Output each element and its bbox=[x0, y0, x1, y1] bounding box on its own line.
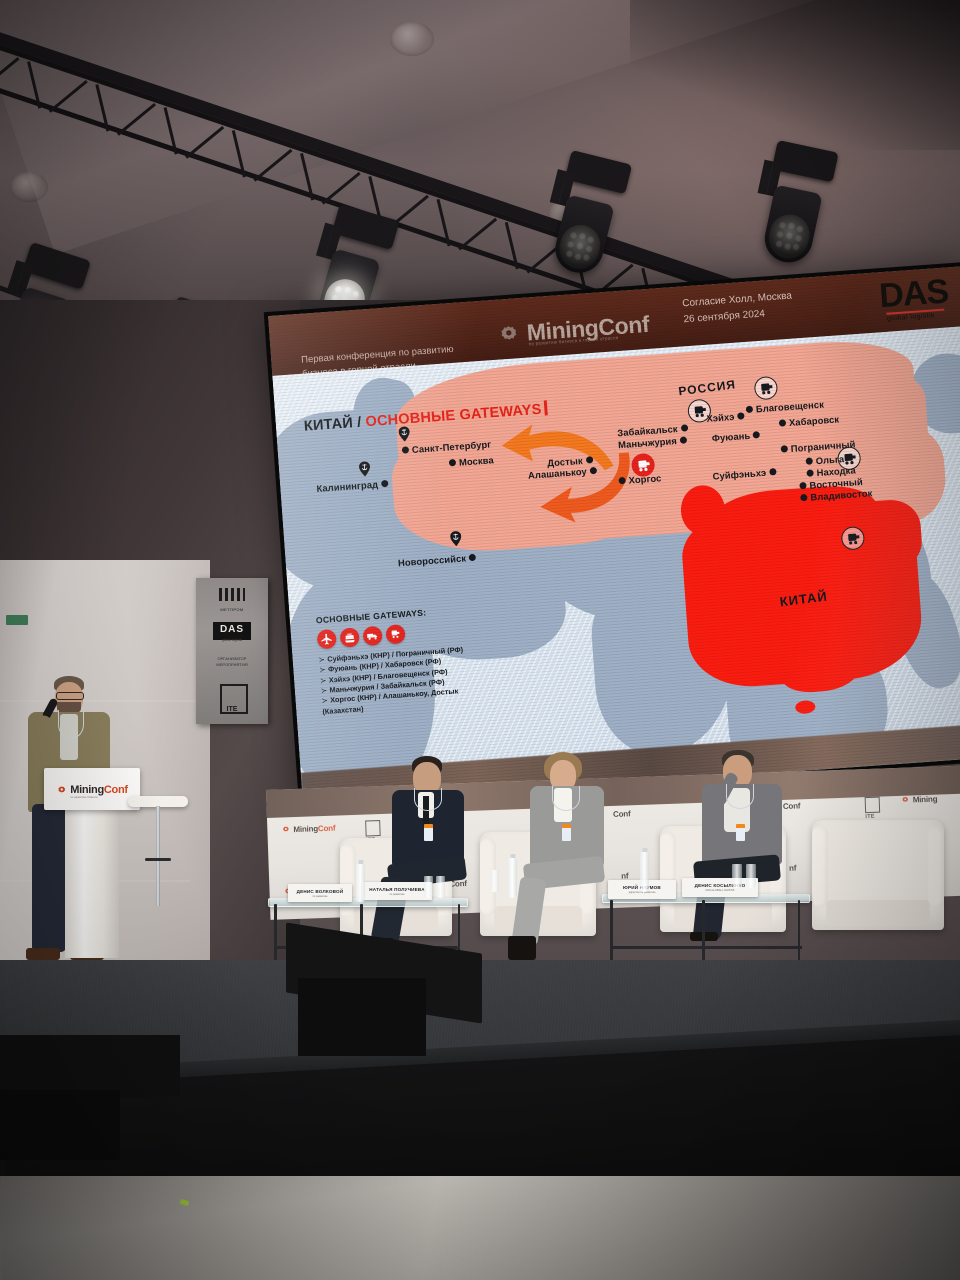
ite-label: ITE bbox=[196, 706, 268, 713]
nameplate-2: НАТАЛЬЯ ПОЛУЧИЕВА по развитию bbox=[362, 882, 432, 900]
podium-logo: MiningConf по развитию бизнеса bbox=[56, 784, 128, 796]
led-screen: Первая конференция по развитию бизнеса в… bbox=[268, 266, 960, 807]
gear-icon bbox=[281, 825, 290, 834]
conference-photo-scene: МЕТПРОМ DAS global logistik ОРГАНИЗАТОРМ… bbox=[0, 0, 960, 1280]
speaker-body bbox=[298, 978, 426, 1056]
city-dot bbox=[737, 412, 744, 419]
metprom-label: МЕТПРОМ bbox=[196, 607, 268, 612]
drinking-glass-2 bbox=[436, 876, 445, 898]
train-icon bbox=[385, 624, 405, 644]
drinking-glass-3 bbox=[490, 870, 499, 892]
city-dot bbox=[680, 424, 687, 431]
gear-icon bbox=[56, 785, 67, 796]
backdrop-logo-5: Mining bbox=[901, 795, 938, 805]
stool-post bbox=[156, 806, 160, 906]
exit-sign bbox=[6, 615, 28, 625]
city-dot bbox=[618, 477, 625, 484]
port-pin-novorossiysk bbox=[450, 531, 462, 547]
nameplate-1: ДЕНИС ВОЛКОВОЙ по развитию bbox=[288, 884, 352, 902]
lanyard bbox=[414, 788, 442, 811]
stage-step-lower bbox=[0, 1090, 120, 1160]
city-dot bbox=[781, 445, 788, 452]
attendee-badge bbox=[424, 824, 433, 841]
gateway-badge-vladivostok bbox=[841, 526, 866, 551]
port-pin-saint-petersburg bbox=[398, 426, 410, 442]
attendee-badge bbox=[562, 824, 571, 841]
table-rail bbox=[610, 946, 802, 949]
lanyard bbox=[726, 784, 754, 809]
lanyard bbox=[58, 710, 84, 739]
miningconf-logo: MiningConf по развитию бизнеса в горной … bbox=[497, 311, 650, 349]
ceiling-shadow bbox=[630, 0, 960, 150]
lanyard bbox=[552, 786, 580, 811]
water-bottle-2 bbox=[508, 858, 517, 898]
city-dot bbox=[680, 436, 687, 443]
stool-footrest bbox=[145, 858, 171, 861]
plane-icon bbox=[317, 629, 337, 649]
organizer-caption: ОРГАНИЗАТОРМЕРОПРИЯТИЯ bbox=[196, 656, 268, 668]
gear-icon bbox=[901, 796, 910, 805]
city-dot bbox=[769, 468, 776, 475]
city-dot bbox=[746, 406, 753, 413]
lobby-floor-shadow bbox=[0, 1176, 960, 1280]
backdrop-ite-logo-4: ITE bbox=[865, 797, 881, 821]
water-bottle-1 bbox=[356, 864, 365, 902]
gateway-badge-heihe bbox=[754, 376, 779, 401]
das-tagline: global logistik bbox=[196, 638, 268, 642]
city-dot bbox=[402, 446, 409, 453]
city-dot bbox=[753, 431, 760, 438]
podium-tagline: по развитию бизнеса bbox=[70, 795, 97, 799]
ite-mark-icon bbox=[865, 797, 881, 814]
city-dot bbox=[585, 456, 592, 463]
city-dot bbox=[806, 469, 813, 476]
recessed-light-1 bbox=[390, 22, 434, 56]
sponsor-banner: МЕТПРОМ DAS global logistik ОРГАНИЗАТОРМ… bbox=[196, 578, 268, 724]
presentation-slide: Первая конференция по развитию бизнеса в… bbox=[268, 266, 960, 807]
stage-step-upper bbox=[0, 1035, 180, 1097]
speaker-brand-label: ••• bbox=[457, 944, 464, 949]
city-dot bbox=[469, 554, 476, 561]
das-sponsor-logo: DAS global logistik bbox=[878, 275, 950, 323]
port-pin-kaliningrad bbox=[359, 461, 371, 477]
podium-column bbox=[65, 808, 119, 958]
armchair-4 bbox=[812, 820, 944, 930]
backdrop-logo-1: MiningConf bbox=[281, 824, 335, 835]
glasses-icon bbox=[56, 692, 84, 700]
drinking-glass-4 bbox=[732, 864, 742, 888]
das-wordmark: DAS bbox=[878, 275, 949, 312]
ite-mark-icon bbox=[365, 820, 381, 837]
city-dot bbox=[779, 419, 786, 426]
boot bbox=[508, 936, 536, 960]
podium-top: MiningConf по развитию бизнеса bbox=[44, 768, 140, 810]
bar-stool bbox=[128, 796, 188, 976]
stage-monitor-speaker: ••• bbox=[286, 938, 482, 1058]
city-dot bbox=[381, 480, 388, 487]
metprom-logo: МЕТПРОМ bbox=[196, 588, 268, 612]
attendee-badge bbox=[736, 824, 745, 841]
water-bottle-3 bbox=[640, 852, 649, 892]
truck-icon bbox=[362, 626, 382, 646]
gear-icon bbox=[497, 323, 521, 347]
map-legend: ОСНОВНЫЕ GATEWAYS: bbox=[316, 602, 513, 717]
city-dot bbox=[806, 457, 813, 464]
slide-venue-block: Согласие Холл, Москва 26 сентября 2024 bbox=[682, 289, 794, 328]
city-dot bbox=[800, 494, 807, 501]
city-dot bbox=[589, 467, 596, 474]
drinking-glass-5 bbox=[746, 864, 756, 888]
backdrop-logo-text: Mining bbox=[913, 795, 938, 805]
city-dot bbox=[449, 459, 456, 466]
metprom-mark-icon bbox=[219, 588, 245, 601]
backdrop-logo-text: MiningConf bbox=[293, 824, 335, 834]
drinking-glass-1 bbox=[424, 876, 433, 898]
ship-icon bbox=[340, 627, 360, 647]
city-dot bbox=[799, 482, 806, 489]
